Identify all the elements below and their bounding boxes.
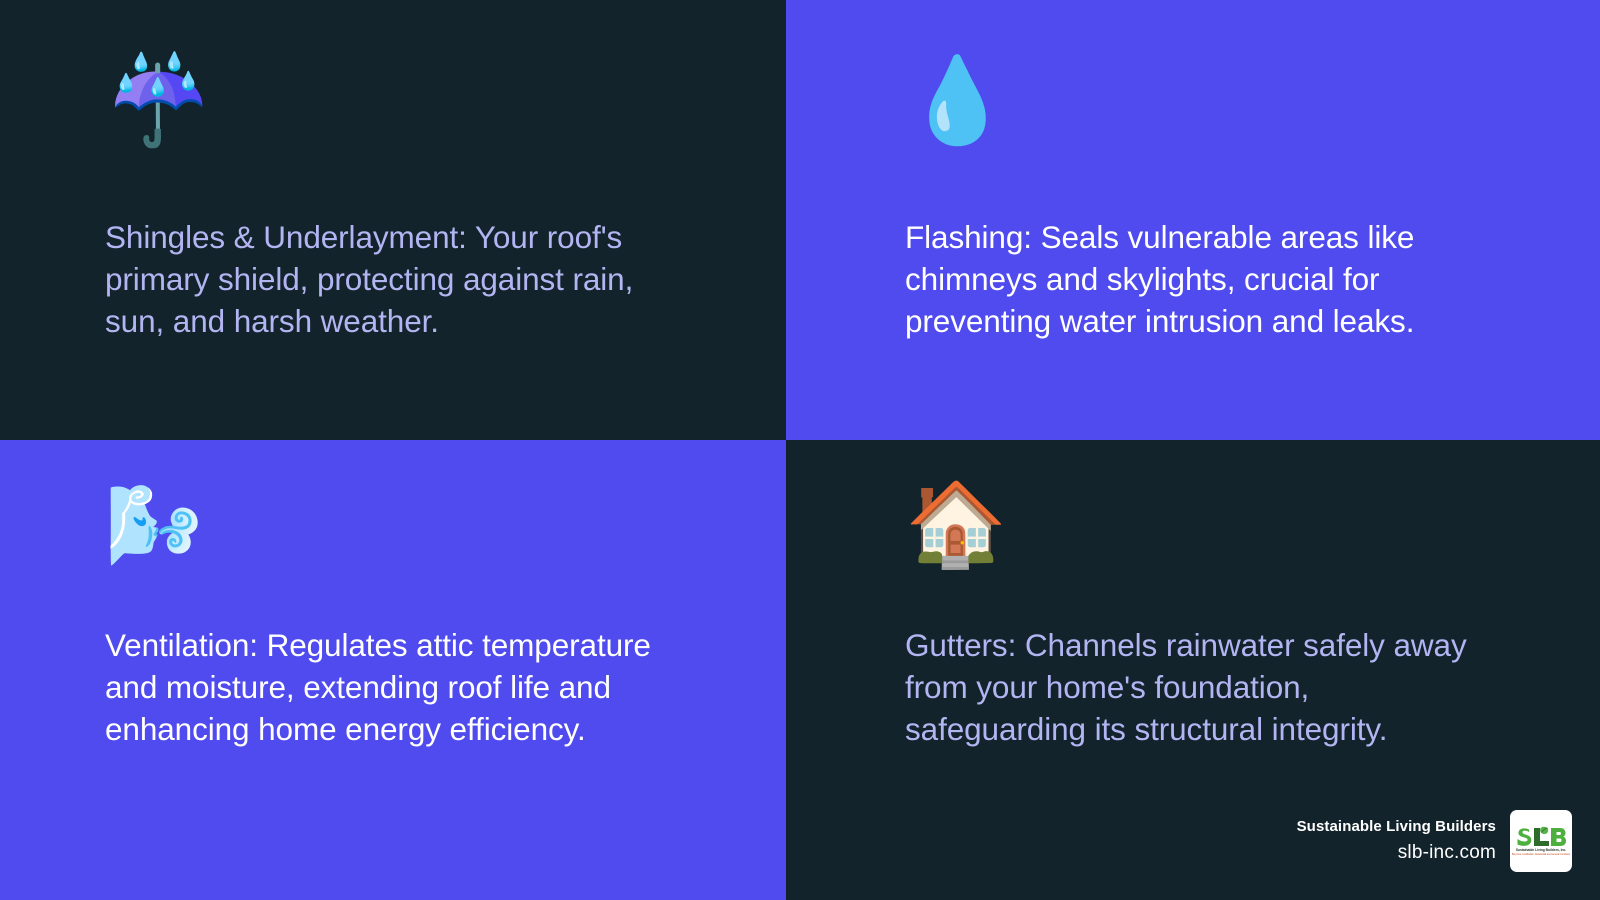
panel-gutters: 🏠 Gutters: Channels rainwater safely awa… — [786, 440, 1600, 900]
house-icon: 🏠 — [905, 470, 1600, 574]
logo-subtitle: Sustainable Living Builders, Inc. — [1516, 849, 1567, 852]
slb-logo-mark — [1516, 826, 1566, 848]
panel-shingles-underlayment-text: Shingles & Underlayment: Your roof's pri… — [105, 216, 665, 343]
logo-tagline: Bay Area, Certification, Residential and… — [1512, 854, 1570, 856]
panel-gutters-text: Gutters: Channels rainwater safely away … — [905, 624, 1485, 751]
panel-ventilation: 🌬️ Ventilation: Regulates attic temperat… — [0, 440, 786, 900]
panel-flashing: 💧 Flashing: Seals vulnerable areas like … — [786, 0, 1600, 440]
panel-flashing-text: Flashing: Seals vulnerable areas like ch… — [905, 216, 1445, 343]
company-logo-badge[interactable]: Sustainable Living Builders, Inc. Bay Ar… — [1510, 810, 1572, 872]
company-name: Sustainable Living Builders — [1297, 818, 1496, 835]
wind-face-icon: 🌬️ — [105, 470, 786, 574]
umbrella-with-rain-drops-icon: ☔ — [105, 58, 786, 168]
panel-ventilation-text: Ventilation: Regulates attic temperature… — [105, 624, 675, 751]
water-droplet-icon: 💧 — [905, 58, 1600, 168]
roofing-components-infographic: ☔ Shingles & Underlayment: Your roof's p… — [0, 0, 1600, 900]
brand-text-block: Sustainable Living Builders slb-inc.com — [1297, 818, 1496, 864]
branding: Sustainable Living Builders slb-inc.com … — [1297, 810, 1572, 872]
website-url[interactable]: slb-inc.com — [1398, 842, 1496, 864]
panel-shingles-underlayment: ☔ Shingles & Underlayment: Your roof's p… — [0, 0, 786, 440]
